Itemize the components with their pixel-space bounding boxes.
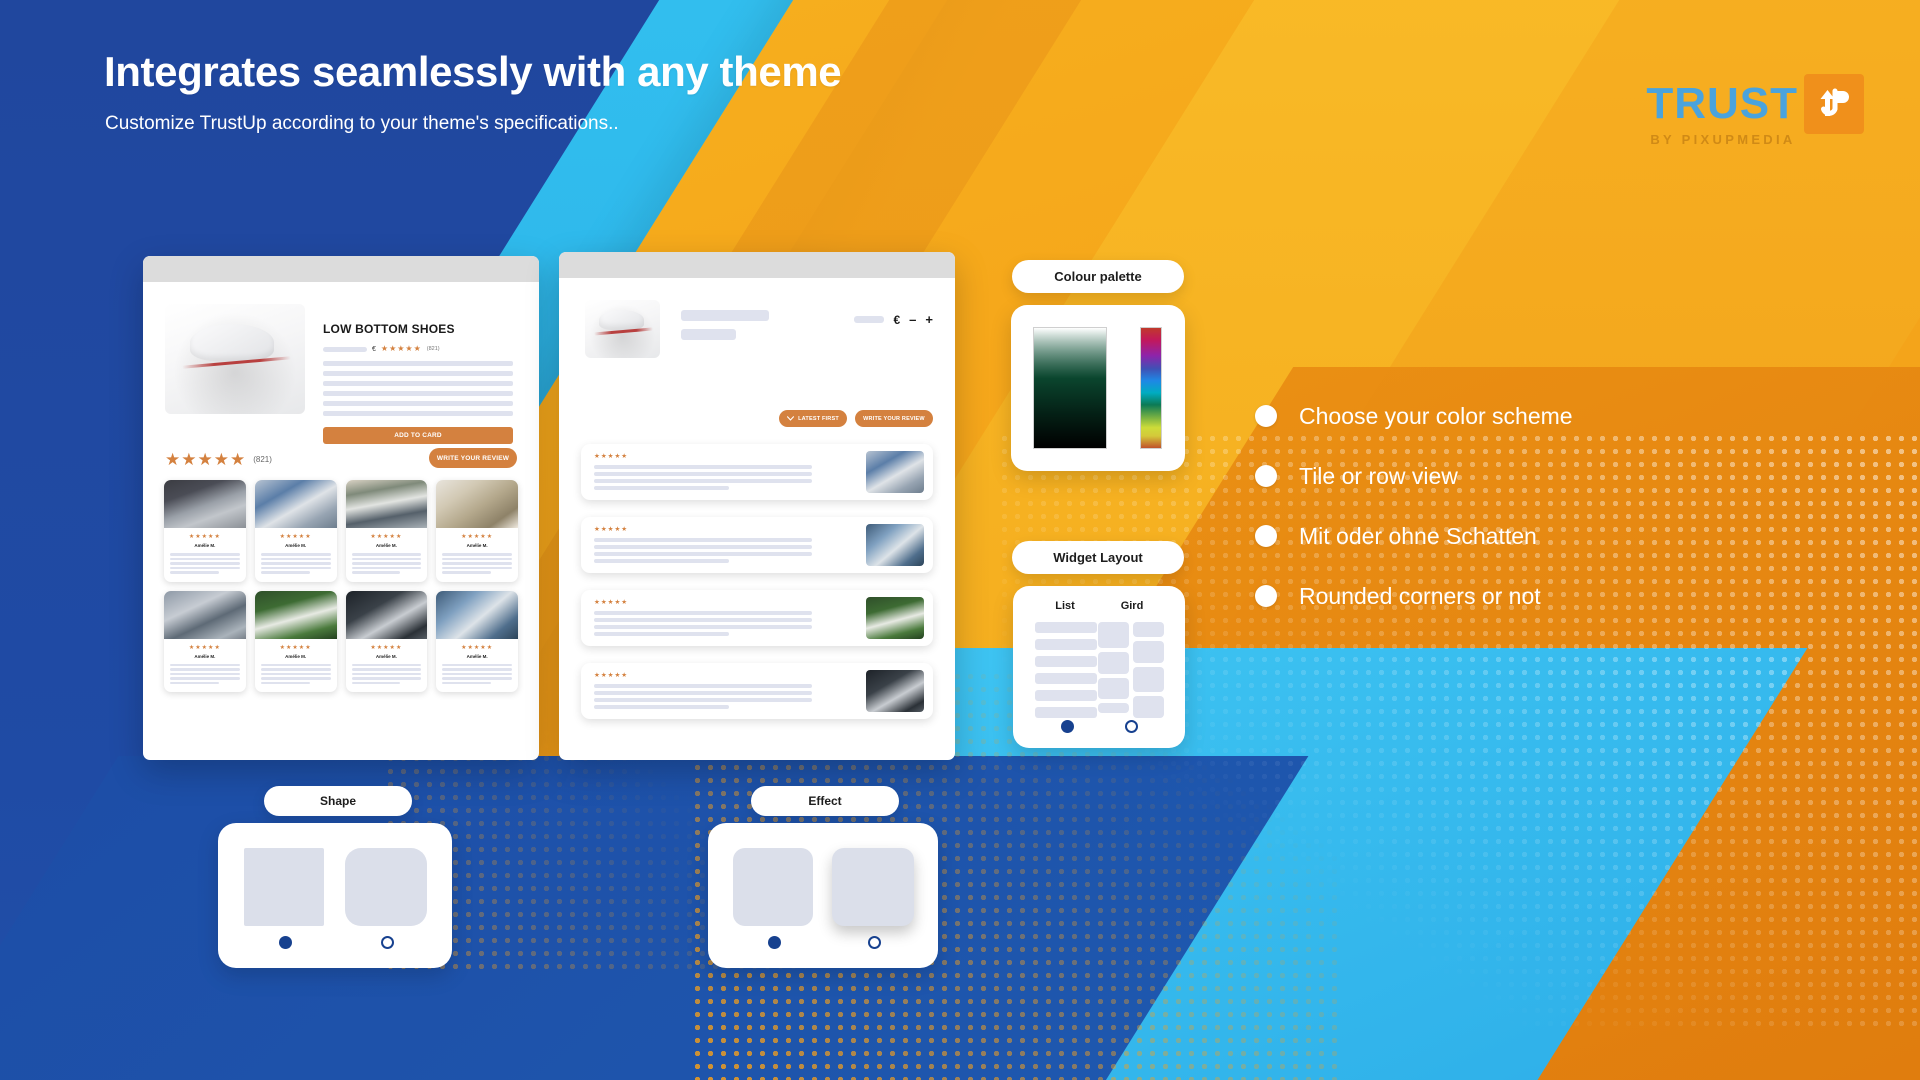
review-row-text-line — [594, 545, 812, 549]
review-card-text-line — [170, 677, 240, 680]
review-row-image — [866, 451, 924, 493]
price-placeholder — [323, 347, 367, 352]
review-row-text-line — [594, 611, 812, 615]
mockup-titlebar — [143, 256, 539, 282]
layout-grid-tile — [1133, 641, 1164, 663]
review-card-stars: ★★★★★ — [170, 645, 240, 651]
review-card[interactable]: ★★★★★Amélie M. — [255, 480, 337, 582]
review-card-text-line — [352, 664, 422, 667]
review-row-text-line — [594, 705, 729, 709]
review-row-text-line — [594, 618, 812, 622]
quantity-decrease-button[interactable]: – — [909, 312, 916, 327]
review-card-text-line — [170, 664, 240, 667]
feature-bullet-item: Tile or row view — [1255, 446, 1573, 506]
up-arrow-icon — [1812, 82, 1856, 126]
review-row-text-line — [594, 479, 812, 483]
effect-title: Effect — [751, 786, 899, 816]
bullet-dot-icon — [1255, 465, 1277, 487]
reviews-summary-count: (821) — [253, 455, 272, 464]
review-card-text-line — [170, 668, 240, 671]
logo-tagline: BY PIXUPMEDIA — [1650, 132, 1795, 147]
effect-radio-shadow[interactable] — [868, 936, 881, 949]
product-meta-placeholder — [681, 329, 736, 340]
layout-grid-tile — [1098, 652, 1129, 674]
review-card-stars: ★★★★★ — [170, 534, 240, 540]
review-card[interactable]: ★★★★★Amélie M. — [346, 480, 428, 582]
review-card-text-line — [170, 562, 240, 565]
description-line — [323, 391, 513, 396]
review-card-author: Amélie M. — [442, 543, 512, 548]
review-row-text-line — [594, 691, 812, 695]
review-card-text-line — [352, 668, 422, 671]
description-line — [323, 361, 513, 366]
description-line — [323, 371, 513, 376]
shape-preview-square[interactable] — [244, 848, 324, 926]
layout-preview-list[interactable] — [1035, 622, 1097, 724]
review-row-image — [866, 524, 924, 566]
background-blue-foot — [0, 756, 1309, 1080]
review-list-mockup: € – + LATEST FIRST WRITE YOUR REVIEW ★★★… — [559, 252, 955, 760]
sort-dropdown-label: LATEST FIRST — [798, 416, 839, 422]
saturation-value-picker[interactable] — [1033, 327, 1107, 449]
review-row-stars: ★★★★★ — [594, 454, 866, 461]
widget-layout-title: Widget Layout — [1012, 541, 1184, 574]
review-card-text-line — [261, 668, 331, 671]
review-card-text-line — [442, 677, 512, 680]
review-card-text-line — [261, 677, 331, 680]
layout-option-list-label: List — [1036, 600, 1094, 612]
review-card-text-line — [442, 664, 512, 667]
product-page-mockup: LOW BOTTOM SHOES € ★★★★★ (821) ADD TO CA… — [143, 256, 539, 760]
feature-bullet-label: Rounded corners or not — [1299, 583, 1541, 610]
review-card-author: Amélie M. — [261, 654, 331, 659]
review-card-text-line — [261, 567, 331, 570]
feature-bullet-label: Tile or row view — [1299, 463, 1458, 490]
layout-grid-column — [1098, 622, 1129, 722]
review-card-image — [436, 591, 518, 639]
feature-bullet-label: Mit oder ohne Schatten — [1299, 523, 1537, 550]
review-card-author: Amélie M. — [352, 543, 422, 548]
review-card-text-line — [261, 553, 331, 556]
review-card-image — [255, 480, 337, 528]
price-placeholder — [854, 316, 884, 323]
review-row-stars: ★★★★★ — [594, 600, 866, 607]
layout-grid-column — [1133, 622, 1164, 722]
hue-slider[interactable] — [1140, 327, 1162, 449]
shape-radio-square[interactable] — [279, 936, 292, 949]
feature-bullet-item: Rounded corners or not — [1255, 566, 1573, 626]
review-card-text-line — [442, 673, 512, 676]
review-row-text-line — [594, 625, 812, 629]
widget-layout-panel: List Gird — [1013, 586, 1185, 748]
shape-title: Shape — [264, 786, 412, 816]
review-card-text-line — [352, 673, 422, 676]
feature-bullet-label: Choose your color scheme — [1299, 403, 1573, 430]
review-card-text-line — [261, 664, 331, 667]
review-row-text-line — [594, 552, 812, 556]
product-rating-count: (821) — [427, 346, 440, 352]
shape-panel — [218, 823, 452, 968]
description-line — [323, 401, 513, 406]
review-row[interactable]: ★★★★★ — [581, 444, 933, 500]
review-card-text-line — [442, 668, 512, 671]
page-title: Integrates seamlessly with any theme — [104, 48, 841, 96]
reviews-summary-stars: ★★★★★ — [165, 451, 246, 468]
product-hero-image — [165, 304, 305, 414]
review-row-text-line — [594, 538, 812, 542]
product-name-placeholder — [681, 310, 769, 321]
layout-grid-tile — [1098, 622, 1129, 648]
review-card-stars: ★★★★★ — [442, 645, 512, 651]
layout-list-bar — [1035, 707, 1097, 718]
layout-list-bar — [1035, 673, 1097, 684]
layout-list-bar — [1035, 639, 1097, 650]
review-card-image — [255, 591, 337, 639]
logo-up-badge — [1804, 74, 1864, 134]
sort-dropdown[interactable]: LATEST FIRST — [779, 410, 847, 427]
effect-preview-shadow[interactable] — [832, 848, 914, 926]
review-card-text-line — [352, 558, 422, 561]
mockup-titlebar — [559, 252, 955, 278]
shape-radio-rounded[interactable] — [381, 936, 394, 949]
product-title: LOW BOTTOM SHOES — [323, 322, 513, 336]
review-card-image — [436, 480, 518, 528]
write-review-button[interactable]: WRITE YOUR REVIEW — [429, 448, 517, 468]
review-row[interactable]: ★★★★★ — [581, 590, 933, 646]
review-card-stars: ★★★★★ — [261, 534, 331, 540]
review-list-product-image — [585, 300, 660, 358]
review-row-image — [866, 597, 924, 639]
review-card-text-line — [261, 682, 310, 685]
feature-bullet-item: Choose your color scheme — [1255, 386, 1573, 446]
add-to-cart-button[interactable]: ADD TO CARD — [323, 427, 513, 444]
colour-palette-panel — [1011, 305, 1185, 471]
poster-canvas: Integrates seamlessly with any theme Cus… — [0, 0, 1920, 1080]
review-row-image — [866, 670, 924, 712]
bullet-dot-icon — [1255, 585, 1277, 607]
layout-preview-grid[interactable] — [1098, 622, 1164, 722]
review-card-text-line — [352, 677, 422, 680]
review-card-text-line — [261, 562, 331, 565]
layout-list-bar — [1035, 656, 1097, 667]
shape-preview-rounded[interactable] — [345, 848, 427, 926]
currency-symbol: € — [372, 346, 376, 353]
feature-bullet-item: Mit oder ohne Schatten — [1255, 506, 1573, 566]
effect-radio-flat[interactable] — [768, 936, 781, 949]
review-card-text-line — [261, 673, 331, 676]
effect-preview-flat[interactable] — [733, 848, 813, 926]
review-card[interactable]: ★★★★★Amélie M. — [164, 591, 246, 693]
review-card-text-line — [442, 682, 491, 685]
review-card-text-line — [442, 562, 512, 565]
page-subtitle: Customize TrustUp according to your them… — [105, 113, 619, 135]
review-card[interactable]: ★★★★★Amélie M. — [346, 591, 428, 693]
layout-option-grid-label: Gird — [1103, 600, 1161, 612]
review-card[interactable]: ★★★★★Amélie M. — [255, 591, 337, 693]
review-card-stars: ★★★★★ — [352, 645, 422, 651]
review-card[interactable]: ★★★★★Amélie M. — [164, 480, 246, 582]
feature-bullet-list: Choose your color schemeTile or row view… — [1255, 386, 1573, 626]
review-row[interactable]: ★★★★★ — [581, 517, 933, 573]
review-card-image — [164, 591, 246, 639]
review-card-text-line — [352, 571, 401, 574]
review-card-text-line — [352, 553, 422, 556]
review-card-text-line — [352, 567, 422, 570]
review-row-stars: ★★★★★ — [594, 527, 866, 534]
bullet-dot-icon — [1255, 525, 1277, 547]
layout-grid-tile — [1133, 667, 1164, 692]
review-card-text-line — [261, 571, 310, 574]
product-stars: ★★★★★ — [381, 345, 422, 353]
review-card-text-line — [170, 682, 219, 685]
review-card[interactable]: ★★★★★Amélie M. — [436, 480, 518, 582]
bullet-dot-icon — [1255, 405, 1277, 427]
review-card-text-line — [442, 558, 512, 561]
review-row-text-line — [594, 632, 729, 636]
review-card-author: Amélie M. — [442, 654, 512, 659]
layout-list-bar — [1035, 622, 1097, 633]
colour-palette-title: Colour palette — [1012, 260, 1184, 293]
review-card-text-line — [442, 567, 512, 570]
review-card-author: Amélie M. — [170, 654, 240, 659]
currency-symbol: € — [893, 313, 900, 327]
layout-grid-tile — [1098, 703, 1129, 713]
review-card-image — [346, 480, 428, 528]
layout-grid-tile — [1133, 696, 1164, 718]
layout-grid-tile — [1098, 678, 1129, 699]
review-row-text-line — [594, 684, 812, 688]
review-card-author: Amélie M. — [170, 543, 240, 548]
review-card-text-line — [170, 673, 240, 676]
review-card-stars: ★★★★★ — [352, 534, 422, 540]
logo-wordmark: TRUST — [1646, 84, 1798, 124]
description-line — [323, 381, 513, 386]
review-card-text-line — [352, 682, 401, 685]
review-card-text-line — [170, 567, 240, 570]
review-row[interactable]: ★★★★★ — [581, 663, 933, 719]
review-card-text-line — [261, 558, 331, 561]
review-card-text-line — [352, 562, 422, 565]
review-row-text-line — [594, 698, 812, 702]
review-card-text-line — [170, 571, 219, 574]
layout-radio-list[interactable] — [1061, 720, 1074, 733]
review-row-text-line — [594, 559, 729, 563]
layout-grid-tile — [1133, 622, 1164, 637]
review-row-text-line — [594, 465, 812, 469]
brand-logo: TRUST BY PIXUPMEDIA — [1646, 74, 1864, 134]
review-card-image — [346, 591, 428, 639]
review-card-stars: ★★★★★ — [442, 534, 512, 540]
review-card-image — [164, 480, 246, 528]
effect-panel — [708, 823, 938, 968]
review-card-author: Amélie M. — [261, 543, 331, 548]
review-card-text-line — [442, 553, 512, 556]
layout-list-bar — [1035, 690, 1097, 701]
chevron-down-icon — [787, 416, 794, 421]
review-row-text-line — [594, 486, 729, 490]
review-card-text-line — [170, 558, 240, 561]
review-card-grid: ★★★★★Amélie M.★★★★★Amélie M.★★★★★Amélie … — [164, 480, 518, 692]
review-row-list: ★★★★★★★★★★★★★★★★★★★★ — [581, 444, 933, 736]
description-line — [323, 411, 513, 416]
review-card[interactable]: ★★★★★Amélie M. — [436, 591, 518, 693]
review-row-text-line — [594, 472, 812, 476]
review-card-text-line — [170, 553, 240, 556]
review-row-stars: ★★★★★ — [594, 673, 866, 680]
layout-radio-grid[interactable] — [1125, 720, 1138, 733]
review-card-stars: ★★★★★ — [261, 645, 331, 651]
quantity-increase-button[interactable]: + — [925, 312, 933, 327]
review-card-author: Amélie M. — [352, 654, 422, 659]
review-card-text-line — [442, 571, 491, 574]
write-review-button[interactable]: WRITE YOUR REVIEW — [855, 410, 933, 427]
